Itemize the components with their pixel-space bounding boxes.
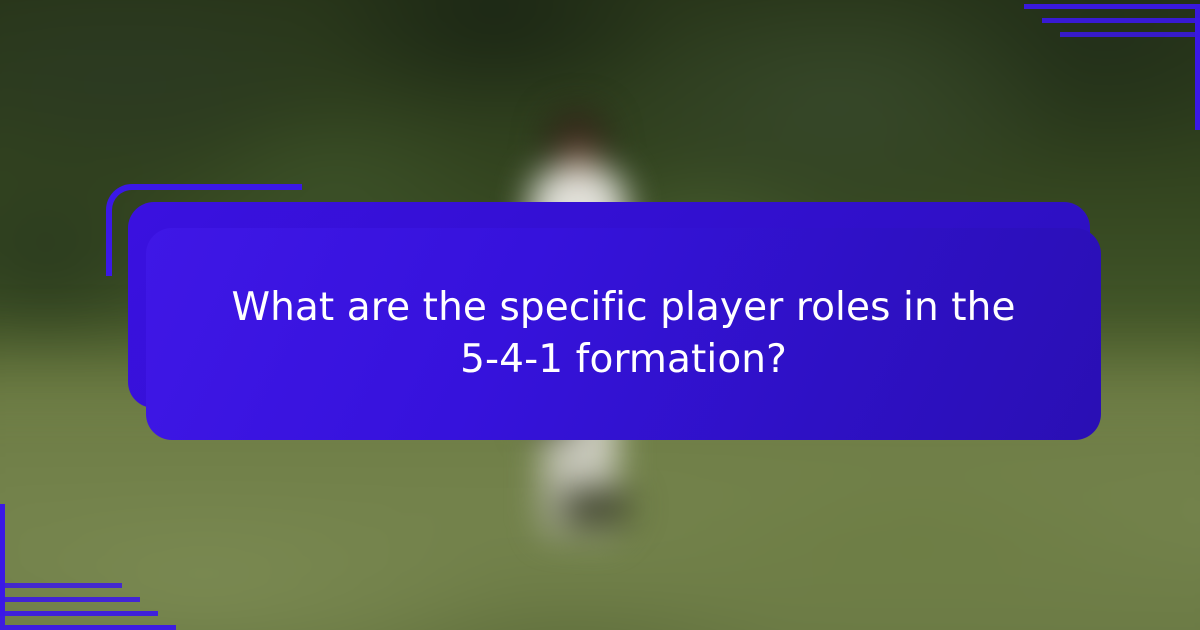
question-card: What are the specific player roles in th… <box>146 228 1101 440</box>
question-headline: What are the specific player roles in th… <box>209 282 1039 387</box>
og-image-canvas: What are the specific player roles in th… <box>0 0 1200 630</box>
figure-right-shoe <box>558 487 632 527</box>
